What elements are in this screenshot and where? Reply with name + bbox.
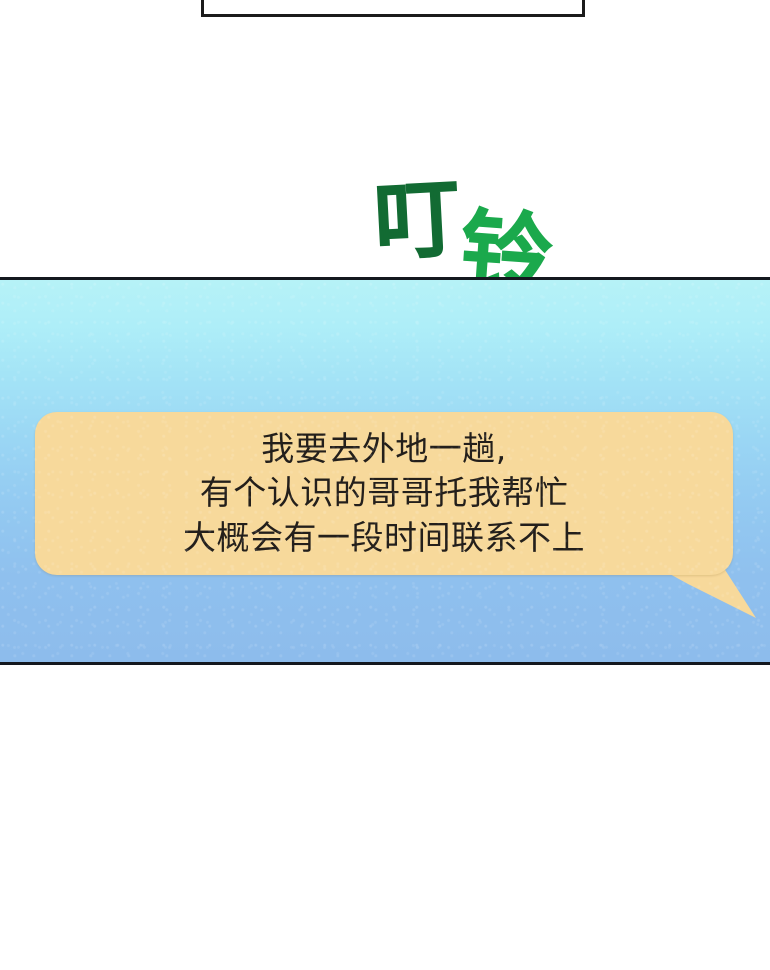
speech-bubble-line-1: 我要去外地一趟, [261,428,507,470]
top-partial-panel [201,0,585,17]
comic-page: 叮 铃 我要去外地一趟, 有个认识的哥哥托我帮忙 大概会有一段时间联系不上 [0,0,770,970]
speech-bubble-line-3: 大概会有一段时间联系不上 [183,517,585,559]
sky-gradient-panel: 我要去外地一趟, 有个认识的哥哥托我帮忙 大概会有一段时间联系不上 [0,277,770,665]
speech-bubble-text: 我要去外地一趟, 有个认识的哥哥托我帮忙 大概会有一段时间联系不上 [35,412,733,575]
panel-gutter-top [0,17,770,278]
speech-bubble-line-2: 有个认识的哥哥托我帮忙 [200,472,569,514]
speech-bubble: 我要去外地一趟, 有个认识的哥哥托我帮忙 大概会有一段时间联系不上 [35,412,733,575]
panel-gutter-bottom [0,665,770,970]
